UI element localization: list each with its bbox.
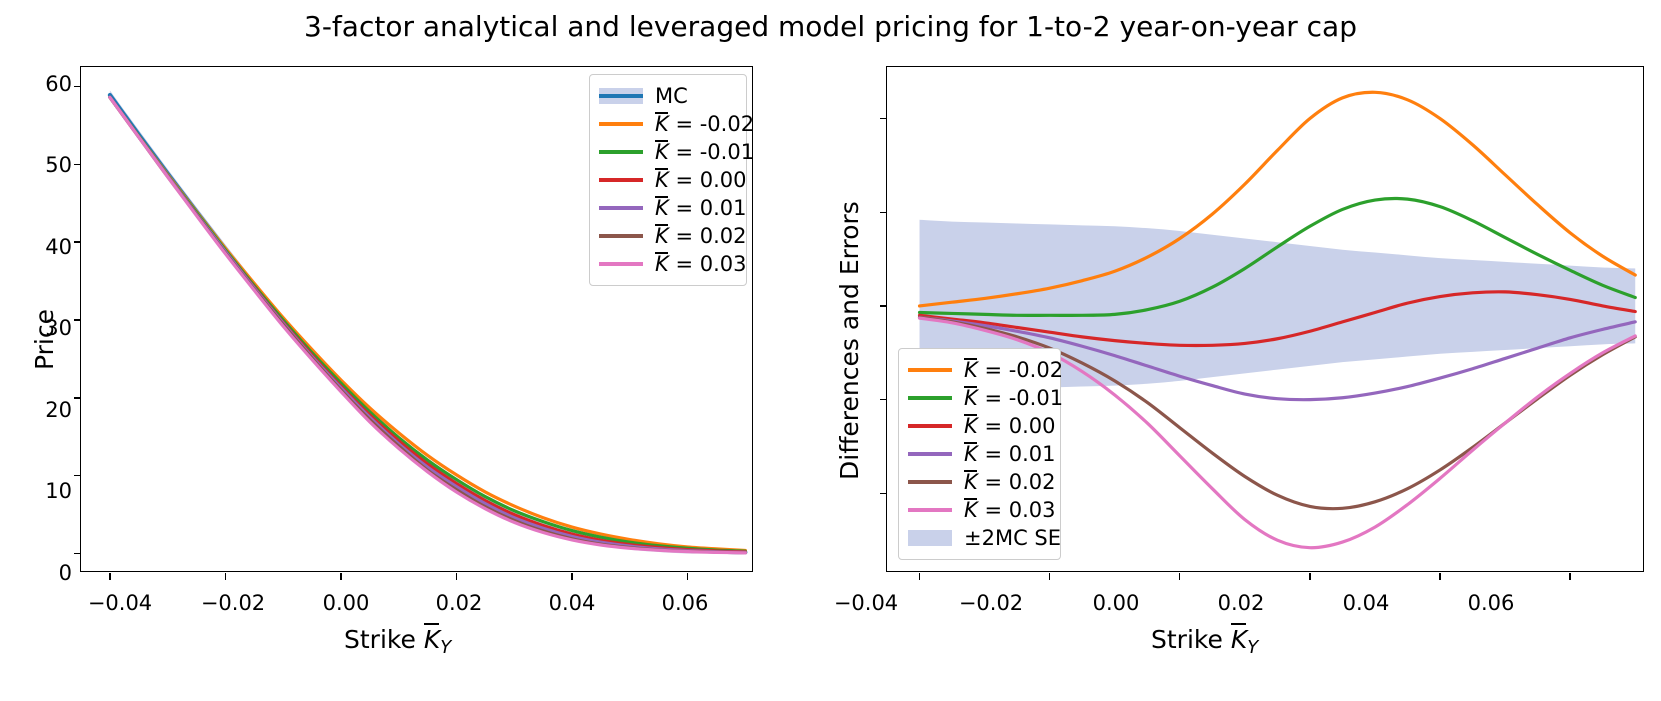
left-x-axis-label: Strike KY (344, 625, 451, 658)
legend-item-mcse[interactable]: ±2MC SE (908, 524, 1050, 552)
legend-item-k-001[interactable]: K = 0.01 (908, 440, 1050, 468)
y-tickmark (74, 475, 81, 476)
legend-item-k-002[interactable]: K = 0.02 (599, 222, 736, 250)
legend-item-k-m002[interactable]: K = -0.02 (908, 356, 1050, 384)
x-tickmark (687, 573, 688, 580)
figure-canvas: 3-factor analytical and leveraged model … (0, 0, 1661, 701)
right-xtick-n002: −0.02 (951, 591, 1031, 615)
legend-item-k-000[interactable]: K = 0.00 (599, 166, 736, 194)
y-tickmark (880, 493, 887, 494)
legend-label-mc: MC (655, 86, 688, 107)
differences-panel: Differences and Errors 2 1 0 −1 −2 −0.04… (800, 0, 1661, 701)
legend-label-k-002: K = 0.02 (964, 472, 1056, 493)
left-xtick-n002: −0.02 (193, 591, 273, 615)
left-xtick-006: 0.06 (645, 591, 725, 615)
y-tickmark (74, 397, 81, 398)
right-y-axis-label: Differences and Errors (835, 201, 864, 480)
y-tickmark (880, 305, 887, 306)
mc-band-swatch-icon (599, 87, 643, 105)
y-tickmark (74, 241, 81, 242)
x-tickmark (225, 573, 226, 580)
legend-item-k-m001[interactable]: K = -0.01 (908, 384, 1050, 412)
legend-label-k-002: K = 0.02 (655, 226, 747, 247)
legend-item-k-003[interactable]: K = 0.03 (599, 250, 736, 278)
x-tickmark (109, 573, 110, 580)
legend-item-k-m002[interactable]: K = -0.02 (599, 110, 736, 138)
left-xtick-004: 0.04 (532, 591, 612, 615)
y-tickmark (880, 118, 887, 119)
left-ytick-10: 10 (10, 479, 72, 503)
legend-label-k-m002: K = -0.02 (964, 360, 1063, 381)
legend-label-k-m002: K = -0.02 (655, 114, 754, 135)
right-xtick-006: 0.06 (1451, 591, 1531, 615)
y-tickmark (74, 319, 81, 320)
legend-label-k-000: K = 0.00 (655, 170, 747, 191)
right-x-axis-label-prefix: Strike (1151, 625, 1231, 654)
left-xtick-000: 0.00 (306, 591, 386, 615)
legend-label-k-003: K = 0.03 (655, 254, 747, 275)
y-tickmark (880, 399, 887, 400)
left-x-axis-kbar: K (424, 625, 440, 654)
legend-label-k-000: K = 0.00 (964, 416, 1056, 437)
line-swatch-icon (908, 445, 952, 463)
x-tickmark (340, 573, 341, 580)
right-x-axis-subscript: Y (1247, 637, 1258, 658)
legend-item-k-000[interactable]: K = 0.00 (908, 412, 1050, 440)
legend-label-k-m001: K = -0.01 (964, 388, 1063, 409)
right-x-axis-kbar: K (1231, 625, 1247, 654)
left-ytick-50: 50 (10, 153, 72, 177)
x-tickmark (1179, 573, 1180, 580)
legend-item-k-002[interactable]: K = 0.02 (908, 468, 1050, 496)
line-swatch-icon (599, 255, 643, 273)
line-swatch-icon (599, 143, 643, 161)
y-tickmark (74, 553, 81, 554)
left-xtick-002: 0.02 (419, 591, 499, 615)
left-xtick-n004: −0.04 (80, 591, 160, 615)
right-x-axis-label: Strike KY (1151, 625, 1258, 658)
left-x-axis-label-prefix: Strike (344, 625, 424, 654)
legend-item-mc[interactable]: MC (599, 82, 736, 110)
line-swatch-icon (599, 199, 643, 217)
legend-label-k-003: K = 0.03 (964, 500, 1056, 521)
legend-item-k-m001[interactable]: K = -0.01 (599, 138, 736, 166)
legend-item-k-001[interactable]: K = 0.01 (599, 194, 736, 222)
legend-label-mcse: ±2MC SE (964, 528, 1061, 549)
line-swatch-icon (599, 115, 643, 133)
legend-label-k-001: K = 0.01 (655, 198, 747, 219)
x-tickmark (1309, 573, 1310, 580)
right-xtick-004: 0.04 (1326, 591, 1406, 615)
left-ytick-20: 20 (10, 398, 72, 422)
left-x-axis-subscript: Y (440, 637, 451, 658)
right-xtick-000: 0.00 (1076, 591, 1156, 615)
x-tickmark (456, 573, 457, 580)
price-panel: Price 60 50 40 30 20 10 0 −0.04 −0.02 0.… (0, 0, 800, 701)
left-ytick-40: 40 (10, 235, 72, 259)
legend-label-k-m001: K = -0.01 (655, 142, 754, 163)
y-tickmark (74, 86, 81, 87)
x-tickmark (1439, 573, 1440, 580)
line-swatch-icon (908, 417, 952, 435)
legend-item-k-003[interactable]: K = 0.03 (908, 496, 1050, 524)
left-ytick-30: 30 (10, 316, 72, 340)
line-swatch-icon (599, 171, 643, 189)
line-swatch-icon (599, 227, 643, 245)
x-tickmark (571, 573, 572, 580)
right-legend[interactable]: K = -0.02 K = -0.01 K = 0.00 K = 0.01 K … (898, 348, 1061, 560)
x-tickmark (1569, 573, 1570, 580)
x-tickmark (1049, 573, 1050, 580)
y-tickmark (880, 212, 887, 213)
left-legend[interactable]: MC K = -0.02 K = -0.01 K = 0.00 K = 0.01… (589, 74, 747, 286)
line-swatch-icon (908, 473, 952, 491)
mcse-band-swatch-icon (908, 529, 952, 547)
y-tickmark (74, 164, 81, 165)
line-swatch-icon (908, 361, 952, 379)
right-xtick-002: 0.02 (1201, 591, 1281, 615)
x-tickmark (919, 573, 920, 580)
left-ytick-60: 60 (10, 72, 72, 96)
line-swatch-icon (908, 389, 952, 407)
line-swatch-icon (908, 501, 952, 519)
left-ytick-0: 0 (10, 561, 72, 585)
legend-label-k-001: K = 0.01 (964, 444, 1056, 465)
right-xtick-n004: −0.04 (826, 591, 906, 615)
